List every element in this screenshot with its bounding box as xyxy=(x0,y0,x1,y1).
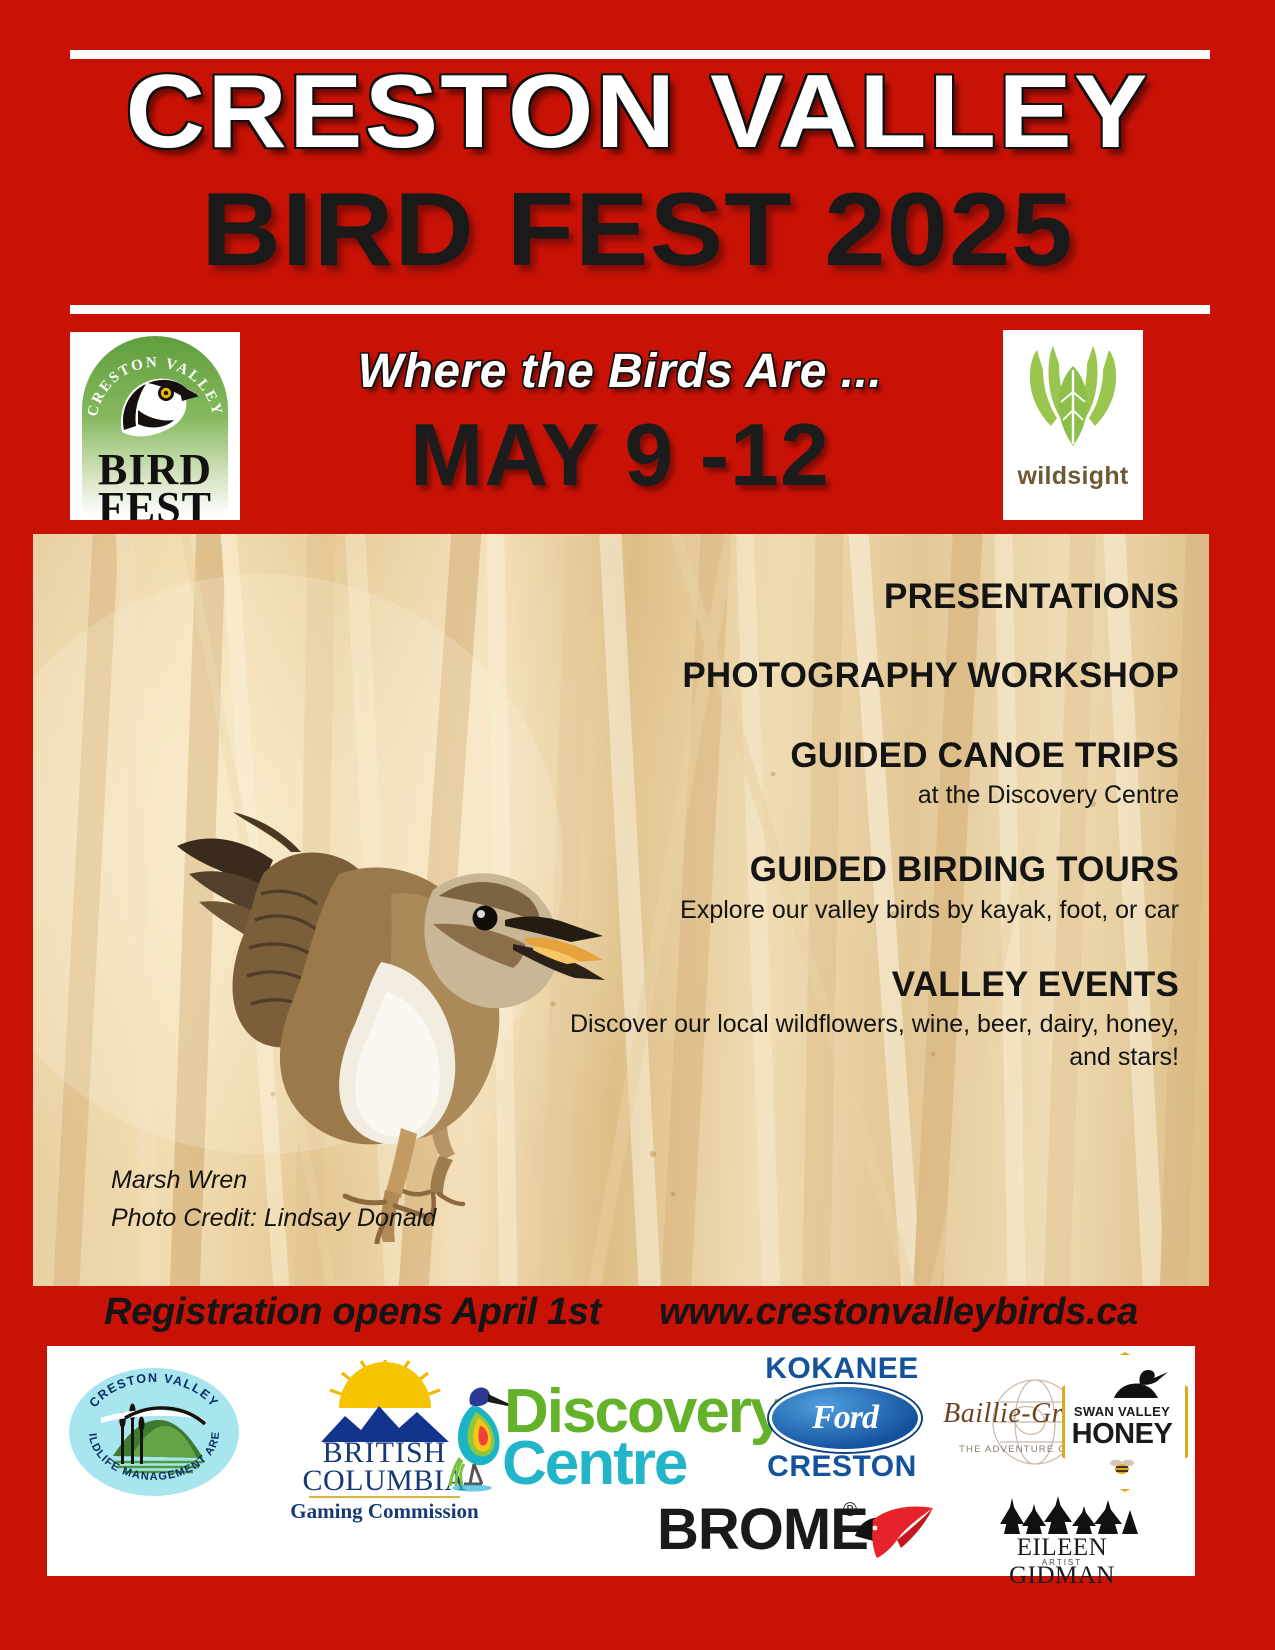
wildsight-logo-word: wildsight xyxy=(1003,462,1143,491)
bee-icon xyxy=(1102,1456,1142,1476)
feature-title: VALLEY EVENTS xyxy=(539,964,1179,1005)
poster-header: CRESTON VALLEY BIRD FEST 2025 CRESTON VA… xyxy=(0,0,1275,530)
page-title-line1: CRESTON VALLEY xyxy=(0,58,1275,167)
svg-text:CRESTON VALLEY: CRESTON VALLEY xyxy=(87,1371,222,1410)
swan-honey-line1: SWAN VALLEY xyxy=(1062,1404,1182,1419)
sponsor-swan-valley-honey: SWAN VALLEY HONEY xyxy=(1062,1352,1182,1492)
feature-title: PHOTOGRAPHY WORKSHOP xyxy=(539,655,1179,696)
sponsor-brome: BROME ® xyxy=(657,1496,917,1564)
hero-photo: PRESENTATIONS PHOTOGRAPHY WORKSHOP GUIDE… xyxy=(33,534,1209,1286)
photo-species-label: Marsh Wren xyxy=(111,1161,436,1200)
ford-brand-label: Ford xyxy=(772,1387,918,1449)
feature-title: GUIDED BIRDING TOURS xyxy=(539,849,1179,890)
discovery-word-centre: Centre xyxy=(502,1428,686,1499)
feature-subtitle: Explore our valley birds by kayak, foot,… xyxy=(539,894,1179,927)
feature-title: GUIDED CANOE TRIPS xyxy=(539,735,1179,776)
feature-subtitle: at the Discovery Centre xyxy=(539,779,1179,812)
cardinal-bird-icon xyxy=(853,1502,935,1564)
feature-item: GUIDED CANOE TRIPS at the Discovery Cent… xyxy=(539,735,1179,812)
feature-subtitle: Discover our local wildflowers, wine, be… xyxy=(539,1008,1179,1073)
bc-gaming-divider xyxy=(309,1496,460,1498)
photo-credit-label: Photo Credit: Lindsay Donald xyxy=(111,1199,436,1238)
swan-icon xyxy=(1112,1368,1170,1402)
brome-name-label: BROME xyxy=(657,1496,868,1563)
features-list: PRESENTATIONS PHOTOGRAPHY WORKSHOP GUIDE… xyxy=(539,576,1179,1111)
website-link[interactable]: www.crestonvalleybirds.ca xyxy=(659,1291,1138,1334)
registration-bar: Registration opens April 1st www.creston… xyxy=(33,1286,1209,1338)
sponsor-discovery-centre: Discovery Centre xyxy=(442,1376,772,1506)
page-title-line2: BIRD FEST 2025 xyxy=(0,176,1275,285)
sponsor-eileen-gidman: EILEEN GIDMAN ARTIST xyxy=(962,1496,1162,1568)
poster-date-range: MAY 9 -12 xyxy=(250,404,990,506)
wildsight-logo: wildsight xyxy=(1003,330,1143,520)
birdfest-logo: CRESTON VALLEY BIRD FEST xyxy=(70,332,240,520)
sponsor-strip: CRESTON VALLEY WILDLIFE MANAGEMENT AREA xyxy=(47,1346,1195,1576)
registration-opens-label: Registration opens April 1st xyxy=(104,1291,601,1334)
gidman-subtitle-label: ARTIST xyxy=(962,1558,1162,1567)
feature-item: PHOTOGRAPHY WORKSHOP xyxy=(539,655,1179,696)
leaf-in-hands-icon xyxy=(1017,340,1129,460)
bc-sun-mountain-icon xyxy=(317,1360,453,1442)
sponsor-kokanee-ford: KOKANEE Ford CRESTON xyxy=(747,1352,937,1492)
photo-caption: Marsh Wren Photo Credit: Lindsay Donald xyxy=(111,1161,436,1239)
sponsor-cvwma: CRESTON VALLEY WILDLIFE MANAGEMENT AREA xyxy=(69,1368,239,1496)
birdfest-logo-word2: FEST xyxy=(70,482,240,520)
poster-tagline: Where the Birds Are ... xyxy=(250,344,990,399)
cvwma-ring-text-icon: CRESTON VALLEY WILDLIFE MANAGEMENT AREA xyxy=(69,1368,239,1496)
feature-item: VALLEY EVENTS Discover our local wildflo… xyxy=(539,964,1179,1073)
osprey-head-icon xyxy=(108,366,204,448)
feature-title: PRESENTATIONS xyxy=(539,576,1179,617)
feature-item: PRESENTATIONS xyxy=(539,576,1179,617)
swan-honey-line2: HONEY xyxy=(1062,1418,1182,1451)
header-divider-mid xyxy=(70,305,1210,314)
poster-root: CRESTON VALLEY BIRD FEST 2025 CRESTON VA… xyxy=(0,0,1275,1650)
ford-top-label: KOKANEE xyxy=(747,1352,937,1386)
feature-item: GUIDED BIRDING TOURS Explore our valley … xyxy=(539,849,1179,926)
ford-oval-badge: Ford xyxy=(769,1384,921,1452)
ford-bottom-label: CRESTON xyxy=(747,1450,937,1484)
pine-trees-icon xyxy=(990,1496,1138,1536)
